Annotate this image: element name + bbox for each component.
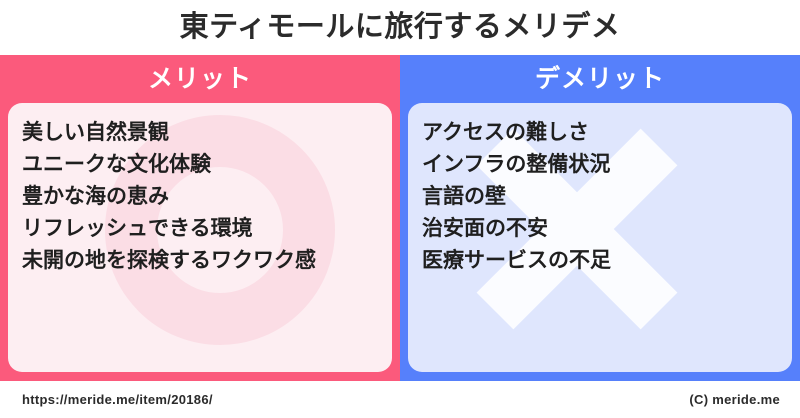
demerit-panel: デメリット アクセスの難しさ インフラの整備状況 言語の壁 治安面の不安 医療サ… [400,55,800,381]
copyright-notice: (C) meride.me [689,392,780,407]
list-item: インフラの整備状況 [422,149,792,181]
merit-panel: メリット 美しい自然景観 ユニークな文化体験 豊かな海の恵み リフレッシュできる… [0,55,400,381]
list-item: リフレッシュできる環境 [22,213,392,245]
list-item: ユニークな文化体験 [22,149,392,181]
list-item: 医療サービスの不足 [422,245,792,277]
list-item: 豊かな海の恵み [22,181,392,213]
merit-list: 美しい自然景観 ユニークな文化体験 豊かな海の恵み リフレッシュできる環境 未開… [8,103,392,277]
footer: https://meride.me/item/20186/ (C) meride… [0,381,800,418]
demerit-heading: デメリット [400,55,800,103]
list-item: 言語の壁 [422,181,792,213]
infographic-page: 東ティモールに旅行するメリデメ メリット 美しい自然景観 ユニークな文化体験 豊… [0,0,800,418]
merit-heading: メリット [0,55,400,103]
page-title: 東ティモールに旅行するメリデメ [180,13,621,42]
list-item: 治安面の不安 [422,213,792,245]
list-item: 美しい自然景観 [22,117,392,149]
title-bar: 東ティモールに旅行するメリデメ [0,0,800,55]
comparison-panels: メリット 美しい自然景観 ユニークな文化体験 豊かな海の恵み リフレッシュできる… [0,55,800,381]
demerit-card: アクセスの難しさ インフラの整備状況 言語の壁 治安面の不安 医療サービスの不足 [408,103,792,372]
list-item: 未開の地を探検するワクワク感 [22,245,392,277]
source-url[interactable]: https://meride.me/item/20186/ [22,392,213,407]
list-item: アクセスの難しさ [422,117,792,149]
merit-card: 美しい自然景観 ユニークな文化体験 豊かな海の恵み リフレッシュできる環境 未開… [8,103,392,372]
demerit-list: アクセスの難しさ インフラの整備状況 言語の壁 治安面の不安 医療サービスの不足 [408,103,792,277]
